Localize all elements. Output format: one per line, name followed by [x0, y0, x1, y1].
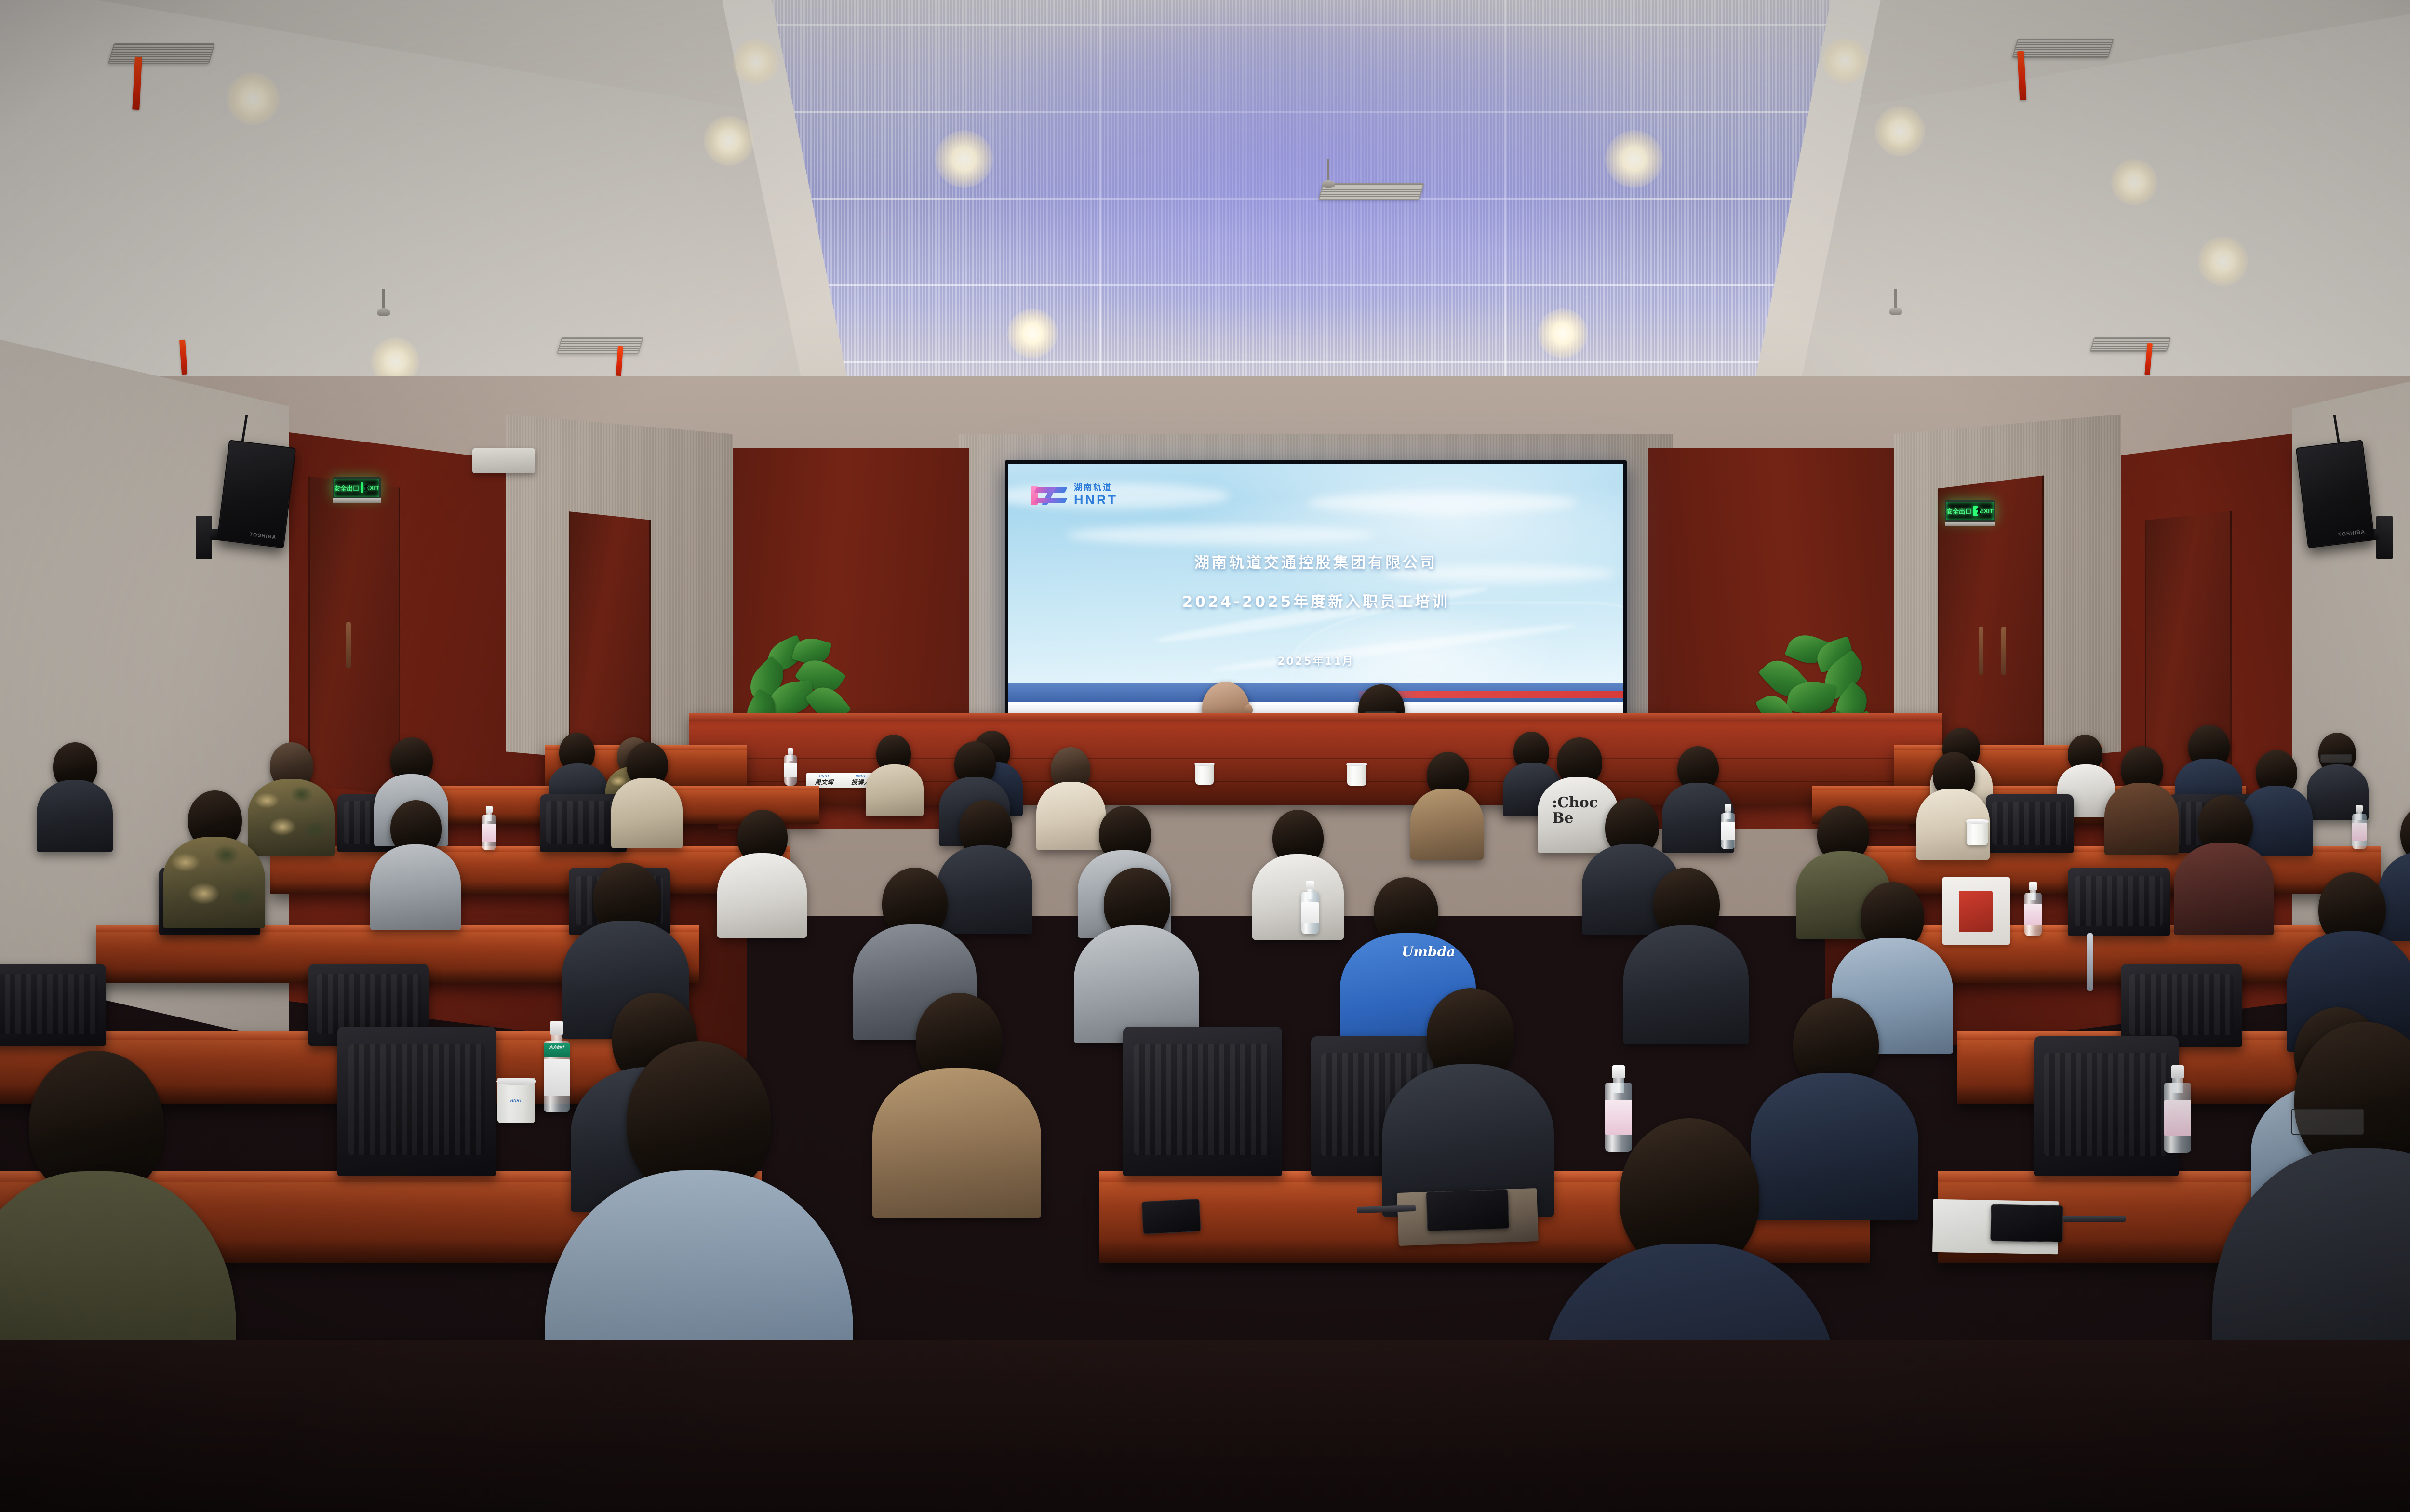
- floor: [0, 1340, 2410, 1512]
- torso: [2174, 843, 2274, 935]
- torso: [872, 1068, 1041, 1218]
- ceiling-downlight: [1875, 106, 1925, 156]
- torso: [1623, 925, 1749, 1044]
- projection-screen: 湖南轨道 HNRT 湖南轨道交通控股集团有限公司 2024-2025年度新入职员…: [1005, 460, 1627, 723]
- chair-frame: [2087, 933, 2093, 991]
- head-table-water-bottle: [784, 748, 797, 786]
- water-bottle: [2164, 1065, 2191, 1153]
- smoke-detector-icon: [1322, 180, 1335, 188]
- door-far-left[interactable]: [569, 511, 651, 771]
- cove-light-glow: [819, 0, 1783, 376]
- speaker-brand-label: TOSHIBA: [249, 532, 277, 541]
- head-table-cup: [1195, 763, 1214, 785]
- exit-sign-right-english: EXIT: [1980, 508, 1994, 515]
- water-bottle: [2024, 882, 2042, 936]
- glasses: [2320, 754, 2352, 763]
- exit-sign-left: 安全出口 EXIT: [333, 477, 381, 498]
- speaker-bracket-left: [196, 516, 212, 559]
- ceiling-downlight: [733, 39, 779, 85]
- ceiling-downlight: [1007, 308, 1058, 359]
- placard-logo-right: HNRT: [856, 775, 866, 778]
- air-vent: [557, 337, 643, 354]
- torso: [1252, 854, 1344, 940]
- placard-person-name: 周文辉: [815, 778, 834, 786]
- torso: [37, 780, 113, 852]
- smoke-detector-icon: [1889, 308, 1902, 315]
- torso: [1410, 789, 1484, 860]
- torso: [866, 764, 924, 816]
- running-man-icon: [361, 482, 363, 493]
- exit-sign-left-chinese: 安全出口: [334, 483, 359, 493]
- desk-row5-left: [270, 846, 790, 894]
- torso: [248, 779, 335, 856]
- slide-logo-latin: HNRT: [1074, 494, 1118, 507]
- torso: [1074, 925, 1199, 1043]
- air-vent: [2090, 337, 2171, 352]
- exit-sign-right-chinese: 安全出口: [1946, 507, 1971, 516]
- smartphone[interactable]: [1426, 1189, 1510, 1231]
- ceiling-downlight: [1822, 38, 1868, 84]
- slide-title-block: 湖南轨道交通控股集团有限公司 2024-2025年度新入职员工培训: [1008, 550, 1623, 611]
- ceiling-downlight: [704, 116, 754, 166]
- exit-sign-right: 安全出口 EXIT: [1945, 500, 1995, 522]
- door-handle-left[interactable]: [346, 622, 351, 668]
- conference-room-scene: 安全出口 EXIT 安全出口 EXIT TOSHIBA TOSHIBA: [0, 0, 2410, 1512]
- water-bottle: [1301, 881, 1319, 934]
- wall-speaker-right: TOSHIBA: [2296, 440, 2375, 548]
- paper-cup: HNRT: [497, 1078, 535, 1123]
- chair-row3[interactable]: [2121, 964, 2242, 1047]
- chair-row2[interactable]: [337, 1027, 496, 1176]
- smartphone[interactable]: [1990, 1204, 2063, 1243]
- smoke-detector-stem: [1327, 159, 1329, 182]
- head-table-cup: [1347, 763, 1366, 786]
- water-bottle: [482, 806, 496, 850]
- paper-cup: [1967, 819, 1988, 845]
- paper-cup-logo: HNRT: [497, 1098, 535, 1103]
- placard-logo-left: HNRT: [819, 775, 830, 778]
- slide-title-line2: 2024-2025年度新入职员工培训: [1008, 589, 1623, 611]
- torso: [717, 853, 807, 938]
- exit-sign-right-base: [1945, 522, 1995, 526]
- slide-logo: 湖南轨道 HNRT: [1031, 484, 1118, 507]
- exit-sign-left-base: [333, 498, 381, 503]
- torso: [370, 844, 461, 930]
- water-bottle: [1721, 804, 1735, 849]
- tea-bottle-label: 东方树叶: [544, 1045, 570, 1050]
- blue-jacket-text: Umbda: [1402, 944, 1455, 960]
- ceiling-downlight: [935, 130, 993, 188]
- torso: [163, 837, 265, 928]
- slide-logo-chinese: 湖南轨道: [1074, 484, 1118, 492]
- tea-bottle: 东方树叶: [544, 1021, 570, 1112]
- smoke-detector-stem: [382, 289, 385, 310]
- door-left[interactable]: [308, 476, 400, 796]
- door-handle-right[interactable]: [1979, 627, 1983, 675]
- door-handle-right-2[interactable]: [2001, 627, 2006, 675]
- ceiling-downlight: [2198, 236, 2248, 286]
- hr-monogram-icon: [1031, 486, 1067, 505]
- chair-row4[interactable]: [2068, 868, 2170, 936]
- shopping-bag: [1942, 877, 2010, 945]
- torso: :Choc Be: [1538, 777, 1619, 853]
- slide-background: 湖南轨道 HNRT 湖南轨道交通控股集团有限公司 2024-2025年度新入职员…: [1008, 464, 1623, 720]
- torso: [1036, 782, 1106, 850]
- ceiling-downlight: [1538, 308, 1588, 359]
- air-vent: [2012, 39, 2114, 58]
- slide-date: 2025年11月: [1008, 653, 1623, 668]
- torso: [1751, 1073, 1918, 1220]
- air-vent: [108, 43, 215, 64]
- ceiling-downlight: [1605, 130, 1663, 188]
- water-bottle: [2352, 805, 2367, 849]
- smoke-detector-icon: [377, 308, 390, 316]
- chair-row5[interactable]: [1986, 794, 2074, 853]
- ceiling-downlight: [227, 72, 280, 125]
- slide-white-stripe: [1008, 702, 1623, 705]
- water-bottle: [1605, 1065, 1632, 1152]
- pen[interactable]: [2063, 1216, 2126, 1222]
- speaker-brand-label: TOSHIBA: [2338, 529, 2365, 538]
- ceiling-projector: [472, 448, 535, 473]
- running-man-icon: [1973, 506, 1978, 516]
- chair-row2[interactable]: [1123, 1027, 1282, 1176]
- chair-row3[interactable]: [0, 964, 106, 1046]
- smartphone[interactable]: [1141, 1199, 1201, 1234]
- torso: [611, 778, 683, 848]
- ceiling-downlight: [2111, 159, 2157, 205]
- torso: [937, 845, 1032, 934]
- glasses: [2291, 1109, 2364, 1135]
- wall-speaker-left: TOSHIBA: [217, 440, 296, 548]
- smoke-detector-stem: [1894, 289, 1897, 309]
- torso: [2104, 783, 2179, 855]
- slide-title-line1: 湖南轨道交通控股集团有限公司: [1008, 550, 1623, 572]
- chair-row2[interactable]: [2034, 1036, 2179, 1176]
